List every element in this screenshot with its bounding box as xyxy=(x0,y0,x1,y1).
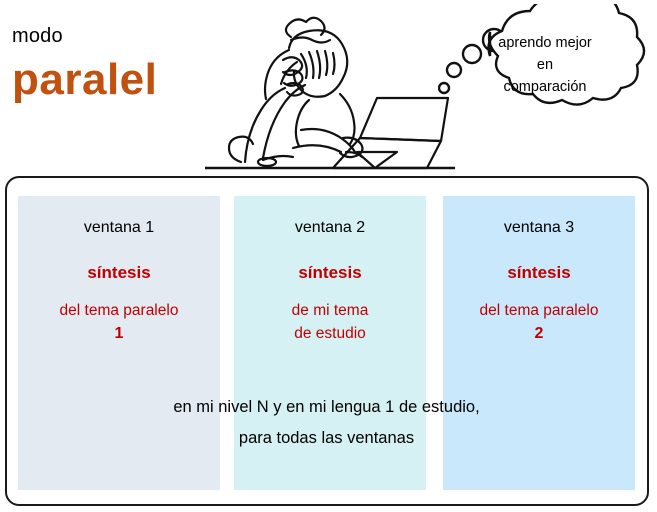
sintesis-label-1: síntesis xyxy=(18,262,220,283)
window-detail-2-line-2: de estudio xyxy=(294,325,366,342)
mode-name-title: paralel xyxy=(12,56,222,104)
window-detail-2-line-1: de mi tema xyxy=(292,302,369,319)
sintesis-label-2: síntesis xyxy=(234,262,426,283)
window-column-1[interactable]: ventana 1 síntesis del tema paralelo 1 xyxy=(18,196,220,490)
window-label-3: ventana 3 xyxy=(443,218,635,238)
window-detail-3-line-2: 2 xyxy=(443,322,635,345)
thought-bubble-text: aprendo mejor en comparación xyxy=(470,32,620,98)
window-column-3[interactable]: ventana 3 síntesis del tema paralelo 2 xyxy=(443,196,635,490)
window-label-2: ventana 2 xyxy=(234,218,426,238)
sintesis-label-3: síntesis xyxy=(443,262,635,283)
thought-bubble-line-2: en xyxy=(470,54,620,76)
thought-bubble-line-1: aprendo mejor xyxy=(470,32,620,54)
window-detail-3: del tema paralelo 2 xyxy=(443,299,635,345)
person-studying-at-laptop-illustration xyxy=(205,2,455,172)
window-detail-1: del tema paralelo 1 xyxy=(18,299,220,345)
modo-label: modo xyxy=(12,24,222,48)
window-detail-3-line-1: del tema paralelo xyxy=(480,302,599,319)
header-area: modo paralel xyxy=(0,0,657,172)
window-column-2[interactable]: ventana 2 síntesis de mi tema de estudio xyxy=(234,196,426,490)
window-detail-2: de mi tema de estudio xyxy=(234,299,426,345)
window-label-1: ventana 1 xyxy=(18,218,220,238)
window-detail-1-line-2: 1 xyxy=(18,322,220,345)
title-block: modo paralel xyxy=(12,24,222,104)
thought-bubble-line-3: comparación xyxy=(470,76,620,98)
window-detail-1-line-1: del tema paralelo xyxy=(60,302,179,319)
